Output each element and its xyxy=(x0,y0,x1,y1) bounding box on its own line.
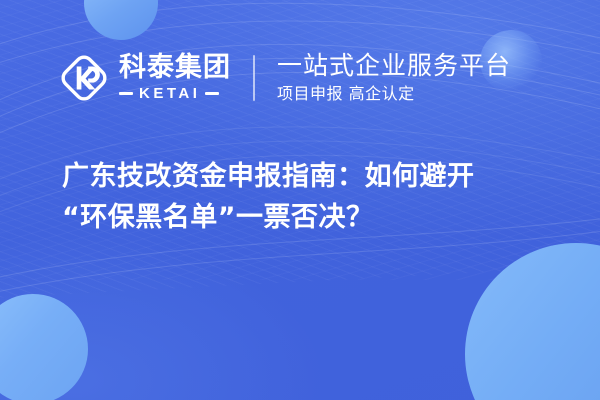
logo-rule-left-icon xyxy=(119,92,133,95)
promo-banner: 科泰集团 KETAI 一站式企业服务平台 项目申报 高企认定 广东技改资金申报指… xyxy=(0,0,600,400)
brand-header-row: 科泰集团 KETAI 一站式企业服务平台 项目申报 高企认定 xyxy=(0,40,600,115)
logo-name-cn: 科泰集团 xyxy=(119,54,231,81)
logo-rule-right-icon xyxy=(205,92,219,95)
company-logo: 科泰集团 KETAI xyxy=(58,52,231,104)
logo-wordmark: 科泰集团 KETAI xyxy=(119,54,231,101)
ketai-logo-icon xyxy=(58,52,110,104)
tagline-primary: 一站式企业服务平台 xyxy=(277,52,511,80)
logo-name-en-row: KETAI xyxy=(119,86,231,101)
vertical-divider xyxy=(253,55,255,101)
tagline-secondary: 项目申报 高企认定 xyxy=(277,85,511,103)
headline-line-1: 广东技改资金申报指南：如何避开 xyxy=(62,156,558,197)
logo-name-en: KETAI xyxy=(139,86,200,101)
tagline-block: 一站式企业服务平台 项目申报 高企认定 xyxy=(277,52,511,103)
headline-line-2: “环保黑名单”一票否决？ xyxy=(62,197,558,238)
banner-headline: 广东技改资金申报指南：如何避开 “环保黑名单”一票否决？ xyxy=(62,156,558,238)
